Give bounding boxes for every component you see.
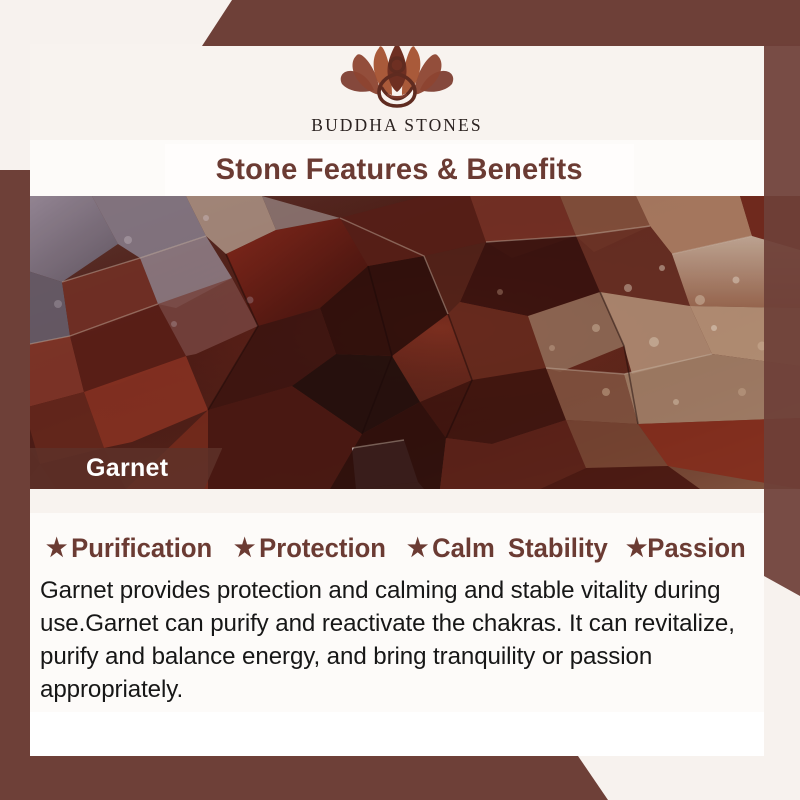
stone-photo (0, 196, 800, 489)
features-divider (30, 489, 764, 513)
frame-top-bar (0, 0, 800, 46)
benefit-tag-label: Purification (71, 533, 212, 564)
star-icon: ★ (407, 536, 428, 561)
frame-bottom-bar (0, 756, 800, 800)
footer-whitespace (30, 712, 764, 756)
lotus-meditation-icon (322, 40, 472, 114)
benefit-tag-stability: Stability (508, 533, 608, 564)
benefit-tag-label: Calm (432, 533, 495, 564)
stone-name-label: Garnet (86, 454, 168, 483)
frame-left-bar (0, 170, 30, 760)
stone-description: Garnet provides protection and calming a… (40, 574, 745, 706)
benefit-tag-protection: ★ Protection (234, 533, 386, 564)
benefit-tag-passion: ★ Passion (626, 533, 746, 564)
benefit-tag-calm: ★ Calm (407, 533, 495, 564)
benefit-tag-row: ★ Purification ★ Protection ★ Calm Stabi… (46, 528, 762, 568)
star-icon: ★ (626, 536, 647, 561)
star-icon: ★ (46, 536, 67, 561)
brand-header: BUDDHA STONES (30, 44, 764, 140)
page-title: Stone Features & Benefits (216, 153, 583, 187)
stone-name-banner: Garnet (30, 448, 222, 489)
benefit-tag-label: Protection (259, 533, 386, 564)
benefit-tag-label: Stability (508, 533, 608, 564)
frame-right-bar (764, 44, 800, 596)
poster-root: BUDDHA STONES Stone Features & Benefits (0, 0, 800, 800)
brand-name: BUDDHA STONES (311, 115, 482, 136)
benefit-tag-label: Passion (648, 533, 746, 564)
title-banner: Stone Features & Benefits (165, 144, 634, 196)
star-icon: ★ (234, 536, 255, 561)
benefit-tag-purification: ★ Purification (46, 533, 212, 564)
